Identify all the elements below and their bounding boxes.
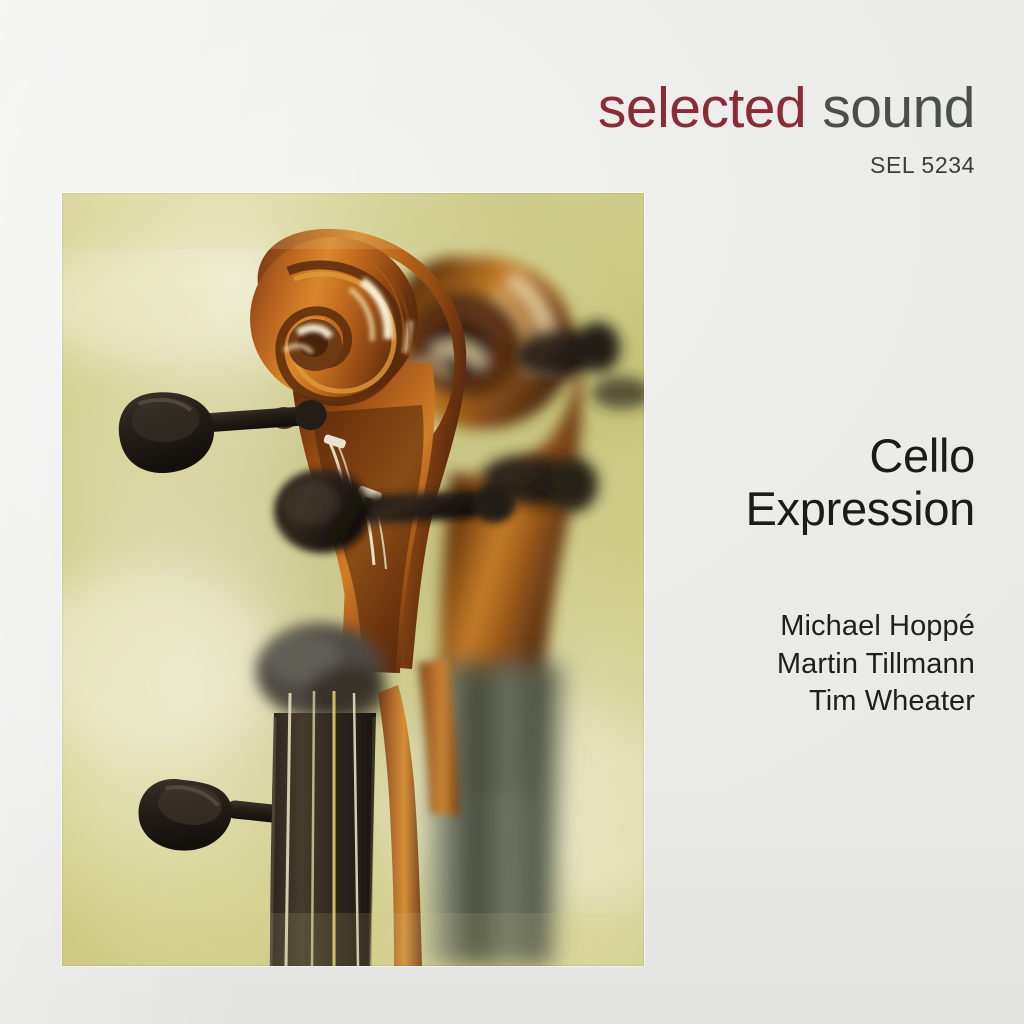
catalog-number: SEL 5234 — [598, 152, 975, 179]
artist-list: Michael Hoppé Martin Tillmann Tim Wheate… — [595, 608, 975, 720]
label-wordmark-sound: sound — [822, 76, 975, 140]
cello-photograph — [62, 193, 644, 966]
album-title-line-2: Expression — [595, 483, 975, 536]
album-title: Cello Expression — [595, 430, 975, 535]
cello-photograph-artwork — [62, 193, 644, 966]
artist-name: Martin Tillmann — [595, 646, 975, 683]
album-title-line-1: Cello — [595, 430, 975, 483]
album-text-block: Cello Expression Michael Hoppé Martin Ti… — [595, 430, 975, 720]
artist-name: Tim Wheater — [595, 683, 975, 720]
label-wordmark: selectedsound — [598, 80, 975, 137]
label-wordmark-selected: selected — [598, 76, 806, 140]
label-lockup: selectedsound SEL 5234 — [598, 80, 975, 179]
album-cover: selectedsound SEL 5234 Cello Expression … — [0, 0, 1024, 1024]
artist-name: Michael Hoppé — [595, 608, 975, 645]
